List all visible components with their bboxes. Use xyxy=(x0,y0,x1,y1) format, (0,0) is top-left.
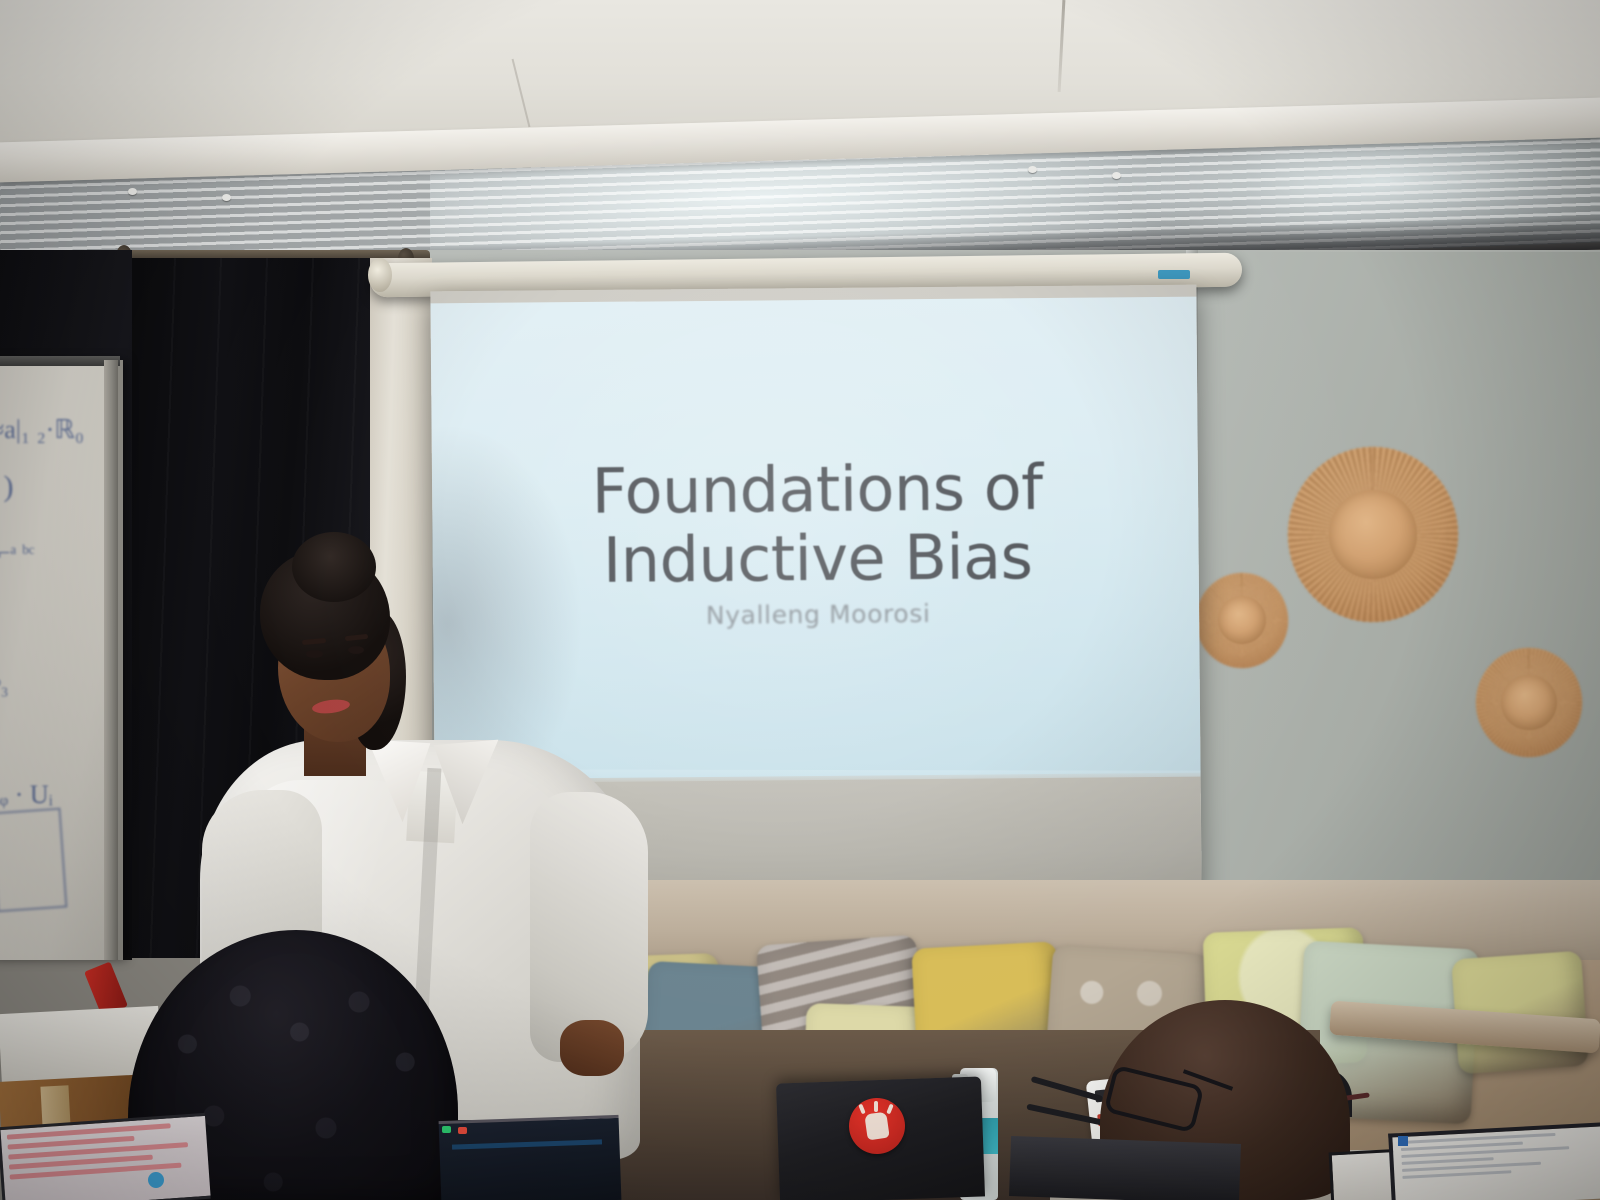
laptop-led-red xyxy=(458,1127,467,1134)
presenter-eye-left xyxy=(306,650,323,658)
laptop-document xyxy=(1388,1122,1600,1200)
presentation-photo: ≈a|₁ ₂·ℝ₀ ( ) ⌐ᵃ ᵇᶜ ᵇ₃ aᵩ · Uᵢ Foundatio… xyxy=(0,0,1600,1200)
laptop-doc-app-icon xyxy=(1398,1136,1408,1146)
laptop-doc-line xyxy=(1402,1157,1494,1165)
laptop-led-green xyxy=(442,1126,451,1133)
presenter-hair-puff xyxy=(292,532,376,602)
laptop-pink-screen xyxy=(0,1113,211,1200)
laptop-screen-row xyxy=(7,1123,171,1139)
laptop-dark-keyboard xyxy=(1009,1136,1241,1200)
presenter-right-hand xyxy=(560,1020,624,1076)
laptop-doc-line xyxy=(1402,1170,1511,1179)
laptop-doc-line xyxy=(1401,1133,1556,1144)
raised-fist-icon xyxy=(864,1112,889,1141)
presenter-eye-right xyxy=(348,646,364,654)
fist-ray xyxy=(874,1101,878,1112)
